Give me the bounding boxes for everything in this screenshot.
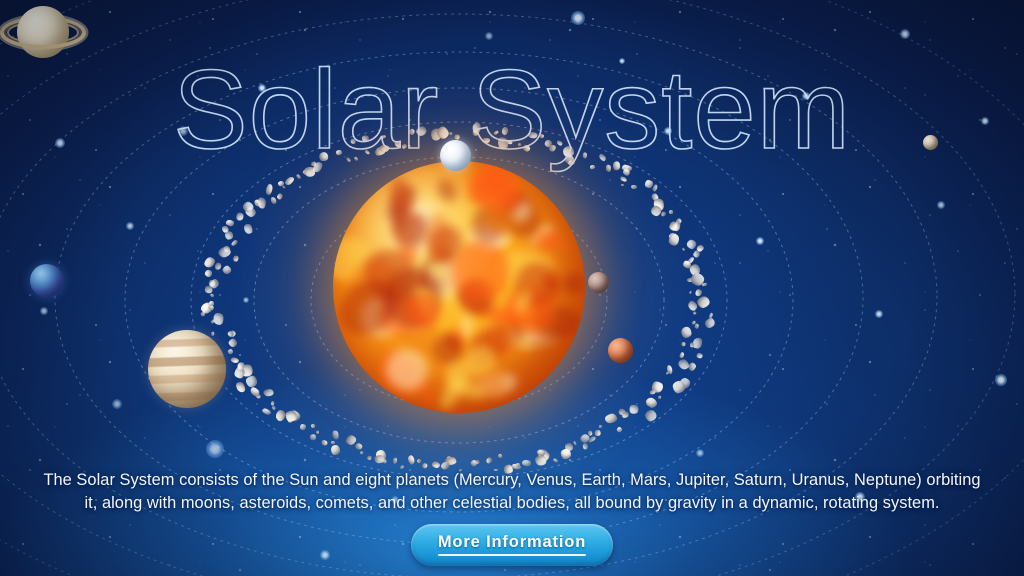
asteroid [562, 146, 574, 158]
asteroid [331, 430, 339, 440]
asteroid [512, 463, 521, 469]
asteroid [619, 176, 627, 183]
sun-granule [518, 332, 532, 352]
asteroid [353, 156, 358, 161]
asteroid [381, 134, 387, 138]
asteroid [335, 149, 342, 155]
asteroid [697, 352, 704, 359]
asteroid [621, 164, 632, 171]
asteroid [582, 152, 586, 158]
asteroid [686, 278, 692, 283]
asteroid [276, 193, 283, 200]
asteroid [282, 185, 286, 188]
asteroid [494, 130, 499, 135]
asteroid [234, 366, 245, 378]
asteroid [669, 209, 674, 213]
asteroid [431, 461, 440, 469]
more-information-button-label: More Information [438, 533, 586, 551]
asteroid [589, 164, 595, 168]
asteroid [430, 128, 442, 141]
asteroid [687, 300, 699, 312]
asteroid [645, 398, 652, 406]
asteroid [296, 173, 302, 179]
asteroid [407, 454, 415, 464]
asteroid [621, 410, 630, 419]
asteroid [249, 386, 261, 398]
asteroid [559, 447, 573, 461]
asteroid [621, 184, 624, 186]
asteroid [232, 255, 239, 262]
asteroid [304, 167, 316, 178]
planet-mercury [588, 272, 609, 293]
asteroid [311, 160, 324, 174]
asteroid [676, 218, 683, 225]
asteroid [455, 134, 460, 139]
asteroid [236, 361, 245, 371]
asteroid [311, 161, 317, 166]
asteroid [264, 389, 274, 397]
asteroid [691, 337, 703, 350]
asteroid [244, 205, 257, 218]
asteroid [300, 424, 306, 430]
asteroid [598, 425, 602, 429]
asteroid [331, 441, 336, 445]
bright-star [900, 29, 910, 39]
asteroid [211, 319, 216, 324]
asteroid [257, 197, 266, 209]
asteroid [666, 365, 673, 375]
sun-granule [561, 271, 585, 296]
asteroid [214, 263, 222, 271]
planet-jupiter [148, 330, 226, 408]
asteroid [222, 264, 233, 275]
asteroid [481, 137, 489, 142]
asteroid [309, 433, 317, 441]
more-information-button[interactable]: More Information [411, 524, 613, 566]
asteroid [653, 184, 659, 191]
asteroid [227, 348, 234, 355]
asteroid [442, 135, 446, 139]
bright-star [995, 374, 1007, 386]
asteroid [241, 200, 255, 214]
asteroid [208, 304, 216, 312]
asteroid [201, 312, 205, 316]
asteroid [366, 456, 371, 461]
asteroid [470, 459, 478, 467]
asteroid [497, 453, 503, 459]
asteroid [218, 245, 233, 259]
asteroid [583, 443, 588, 449]
asteroid [360, 451, 364, 455]
asteroid [501, 127, 508, 136]
asteroid [223, 245, 231, 253]
asteroid [693, 310, 698, 315]
bright-star [258, 84, 266, 92]
planet-mars [608, 338, 633, 363]
asteroid [244, 374, 259, 389]
asteroid [506, 140, 512, 145]
bright-star [619, 58, 625, 64]
asteroid [644, 409, 658, 423]
asteroid [617, 426, 623, 432]
asteroid [681, 259, 692, 270]
planet-neptune [30, 264, 63, 297]
asteroid [652, 198, 665, 212]
planet-saturn [0, 0, 86, 66]
description-text: The Solar System consists of the Sun and… [40, 469, 984, 515]
sun-granule [533, 229, 566, 251]
asteroid [644, 179, 653, 188]
asteroid [375, 454, 385, 463]
page-title-outline: Solar System [72, 48, 952, 178]
asteroid [682, 248, 686, 252]
asteroid [288, 418, 294, 424]
asteroid [631, 185, 637, 189]
asteroid [521, 459, 530, 465]
asteroid [516, 463, 520, 467]
asteroid [229, 330, 237, 338]
asteroid [408, 128, 415, 135]
asteroid [318, 152, 329, 163]
asteroid [535, 456, 546, 466]
button-underline [438, 554, 586, 556]
asteroid [680, 341, 686, 347]
asteroid [436, 125, 451, 140]
saturn-globe [17, 6, 69, 58]
asteroid [672, 380, 686, 395]
asteroid [200, 301, 215, 315]
asteroid [344, 433, 357, 446]
asteroid [669, 221, 679, 231]
bright-star [126, 222, 134, 230]
asteroid [204, 285, 214, 295]
asteroid [692, 250, 700, 259]
asteroid [496, 136, 510, 151]
asteroid [563, 153, 575, 165]
asteroid [204, 269, 214, 279]
asteroid [540, 134, 546, 139]
asteroid [618, 408, 627, 417]
asteroid [401, 143, 407, 149]
asteroid [685, 238, 697, 250]
asteroid [612, 161, 620, 171]
asteroid [449, 131, 453, 135]
asteroid [658, 395, 662, 399]
sun [333, 161, 585, 413]
asteroid [417, 458, 423, 464]
planet-uranus [923, 135, 938, 150]
planet-venus [440, 140, 471, 171]
asteroid [316, 431, 319, 434]
bright-star [485, 32, 493, 40]
asteroid [277, 180, 284, 186]
bright-star [696, 449, 704, 457]
asteroid [649, 389, 655, 394]
asteroid [543, 138, 553, 148]
asteroid [553, 458, 559, 463]
asteroid [650, 380, 665, 395]
asteroid [265, 183, 273, 195]
bright-star [206, 440, 224, 458]
asteroid [350, 139, 355, 144]
asteroid [649, 204, 663, 218]
asteroid [679, 352, 685, 359]
sun-granule [419, 381, 437, 405]
bright-star [243, 297, 249, 303]
asteroid [472, 129, 480, 137]
asteroid [697, 296, 711, 310]
asteroid [239, 363, 255, 378]
asteroid [283, 409, 298, 424]
asteroid [261, 408, 271, 416]
asteroid [472, 122, 481, 134]
asteroid [580, 433, 592, 444]
asteroid [209, 301, 214, 306]
asteroid [210, 293, 215, 298]
asteroid [702, 282, 708, 286]
asteroid [563, 442, 574, 453]
asteroid [668, 233, 679, 245]
asteroid [708, 312, 713, 318]
asteroid [272, 405, 277, 410]
asteroid [230, 239, 238, 246]
asteroid [253, 198, 262, 207]
asteroid [213, 313, 225, 326]
bright-star [112, 399, 122, 409]
asteroid [676, 358, 690, 372]
asteroid [690, 272, 705, 287]
asteroid [518, 142, 522, 146]
asteroid [588, 436, 597, 444]
page-title: Solar System [0, 48, 1024, 178]
asteroid [606, 164, 611, 172]
asteroid [475, 459, 481, 465]
asteroid [275, 409, 287, 422]
asteroid [536, 447, 551, 463]
asteroid [604, 413, 617, 424]
asteroid [485, 457, 493, 465]
asteroid [529, 132, 538, 139]
asteroid [644, 396, 658, 409]
asteroid [221, 224, 230, 233]
asteroid [695, 244, 704, 253]
bright-star [40, 307, 48, 315]
bright-star [802, 92, 810, 100]
asteroid [523, 145, 531, 153]
page-title-text: Solar System [173, 48, 851, 172]
asteroid [692, 320, 697, 325]
asteroid [415, 125, 428, 138]
asteroid [536, 448, 546, 457]
asteroid [681, 327, 692, 338]
asteroid [203, 255, 217, 269]
asteroid [445, 455, 456, 465]
asteroid [393, 140, 401, 148]
asteroid [694, 324, 699, 330]
asteroid [242, 222, 254, 235]
asteroid [598, 153, 607, 162]
sun-granule [434, 175, 461, 204]
asteroid [320, 153, 327, 159]
asteroid [690, 343, 694, 348]
bright-star [937, 201, 945, 209]
asteroid [587, 430, 592, 436]
asteroid [629, 404, 639, 415]
asteroid [321, 439, 328, 446]
bright-star [875, 310, 883, 318]
asteroid [679, 376, 692, 389]
asteroid [408, 144, 411, 147]
bright-star [571, 11, 585, 25]
asteroid [271, 401, 275, 405]
asteroid [284, 176, 295, 187]
asteroid [445, 457, 456, 465]
content-block: The Solar System consists of the Sun and… [0, 469, 1024, 566]
asteroid [687, 255, 695, 264]
asteroid [594, 429, 602, 437]
asteroid [556, 140, 563, 147]
asteroid [379, 145, 390, 153]
asteroid [704, 316, 717, 329]
asteroid [225, 219, 234, 226]
asteroid [227, 331, 235, 339]
solar-system-scene: Solar System The Solar System consists o… [0, 0, 1024, 576]
asteroid [302, 169, 310, 176]
asteroid [393, 457, 398, 464]
asteroid [548, 144, 557, 153]
asteroid [674, 220, 682, 231]
asteroid [381, 458, 387, 464]
asteroid [661, 211, 667, 217]
asteroid [255, 393, 261, 399]
asteroid [287, 409, 301, 423]
asteroid [568, 158, 577, 166]
asteroid [695, 289, 703, 297]
bright-star [178, 126, 188, 136]
bright-star [756, 237, 764, 245]
asteroid [420, 462, 428, 470]
asteroid [689, 291, 692, 295]
asteroid [355, 443, 363, 451]
asteroid [689, 263, 701, 276]
asteroid [209, 278, 220, 289]
asteroid [365, 150, 371, 155]
asteroid [666, 371, 670, 375]
asteroid [651, 193, 660, 202]
bright-star [981, 117, 989, 125]
asteroid [687, 362, 697, 372]
bright-star [664, 127, 672, 135]
asteroid [231, 357, 240, 363]
bright-star [55, 138, 65, 148]
asteroid [346, 156, 352, 162]
asteroid [362, 134, 369, 141]
asteroid [234, 380, 247, 394]
asteroid [227, 338, 238, 349]
asteroid [311, 423, 316, 428]
asteroid [668, 232, 676, 240]
asteroid [373, 145, 386, 157]
asteroid [331, 445, 341, 456]
asteroid [376, 450, 386, 461]
asteroid [224, 232, 232, 240]
asteroid [211, 331, 214, 335]
asteroid [235, 213, 244, 223]
asteroid [622, 168, 631, 177]
asteroid [208, 279, 216, 287]
asteroid [270, 196, 278, 205]
asteroid [573, 441, 577, 445]
